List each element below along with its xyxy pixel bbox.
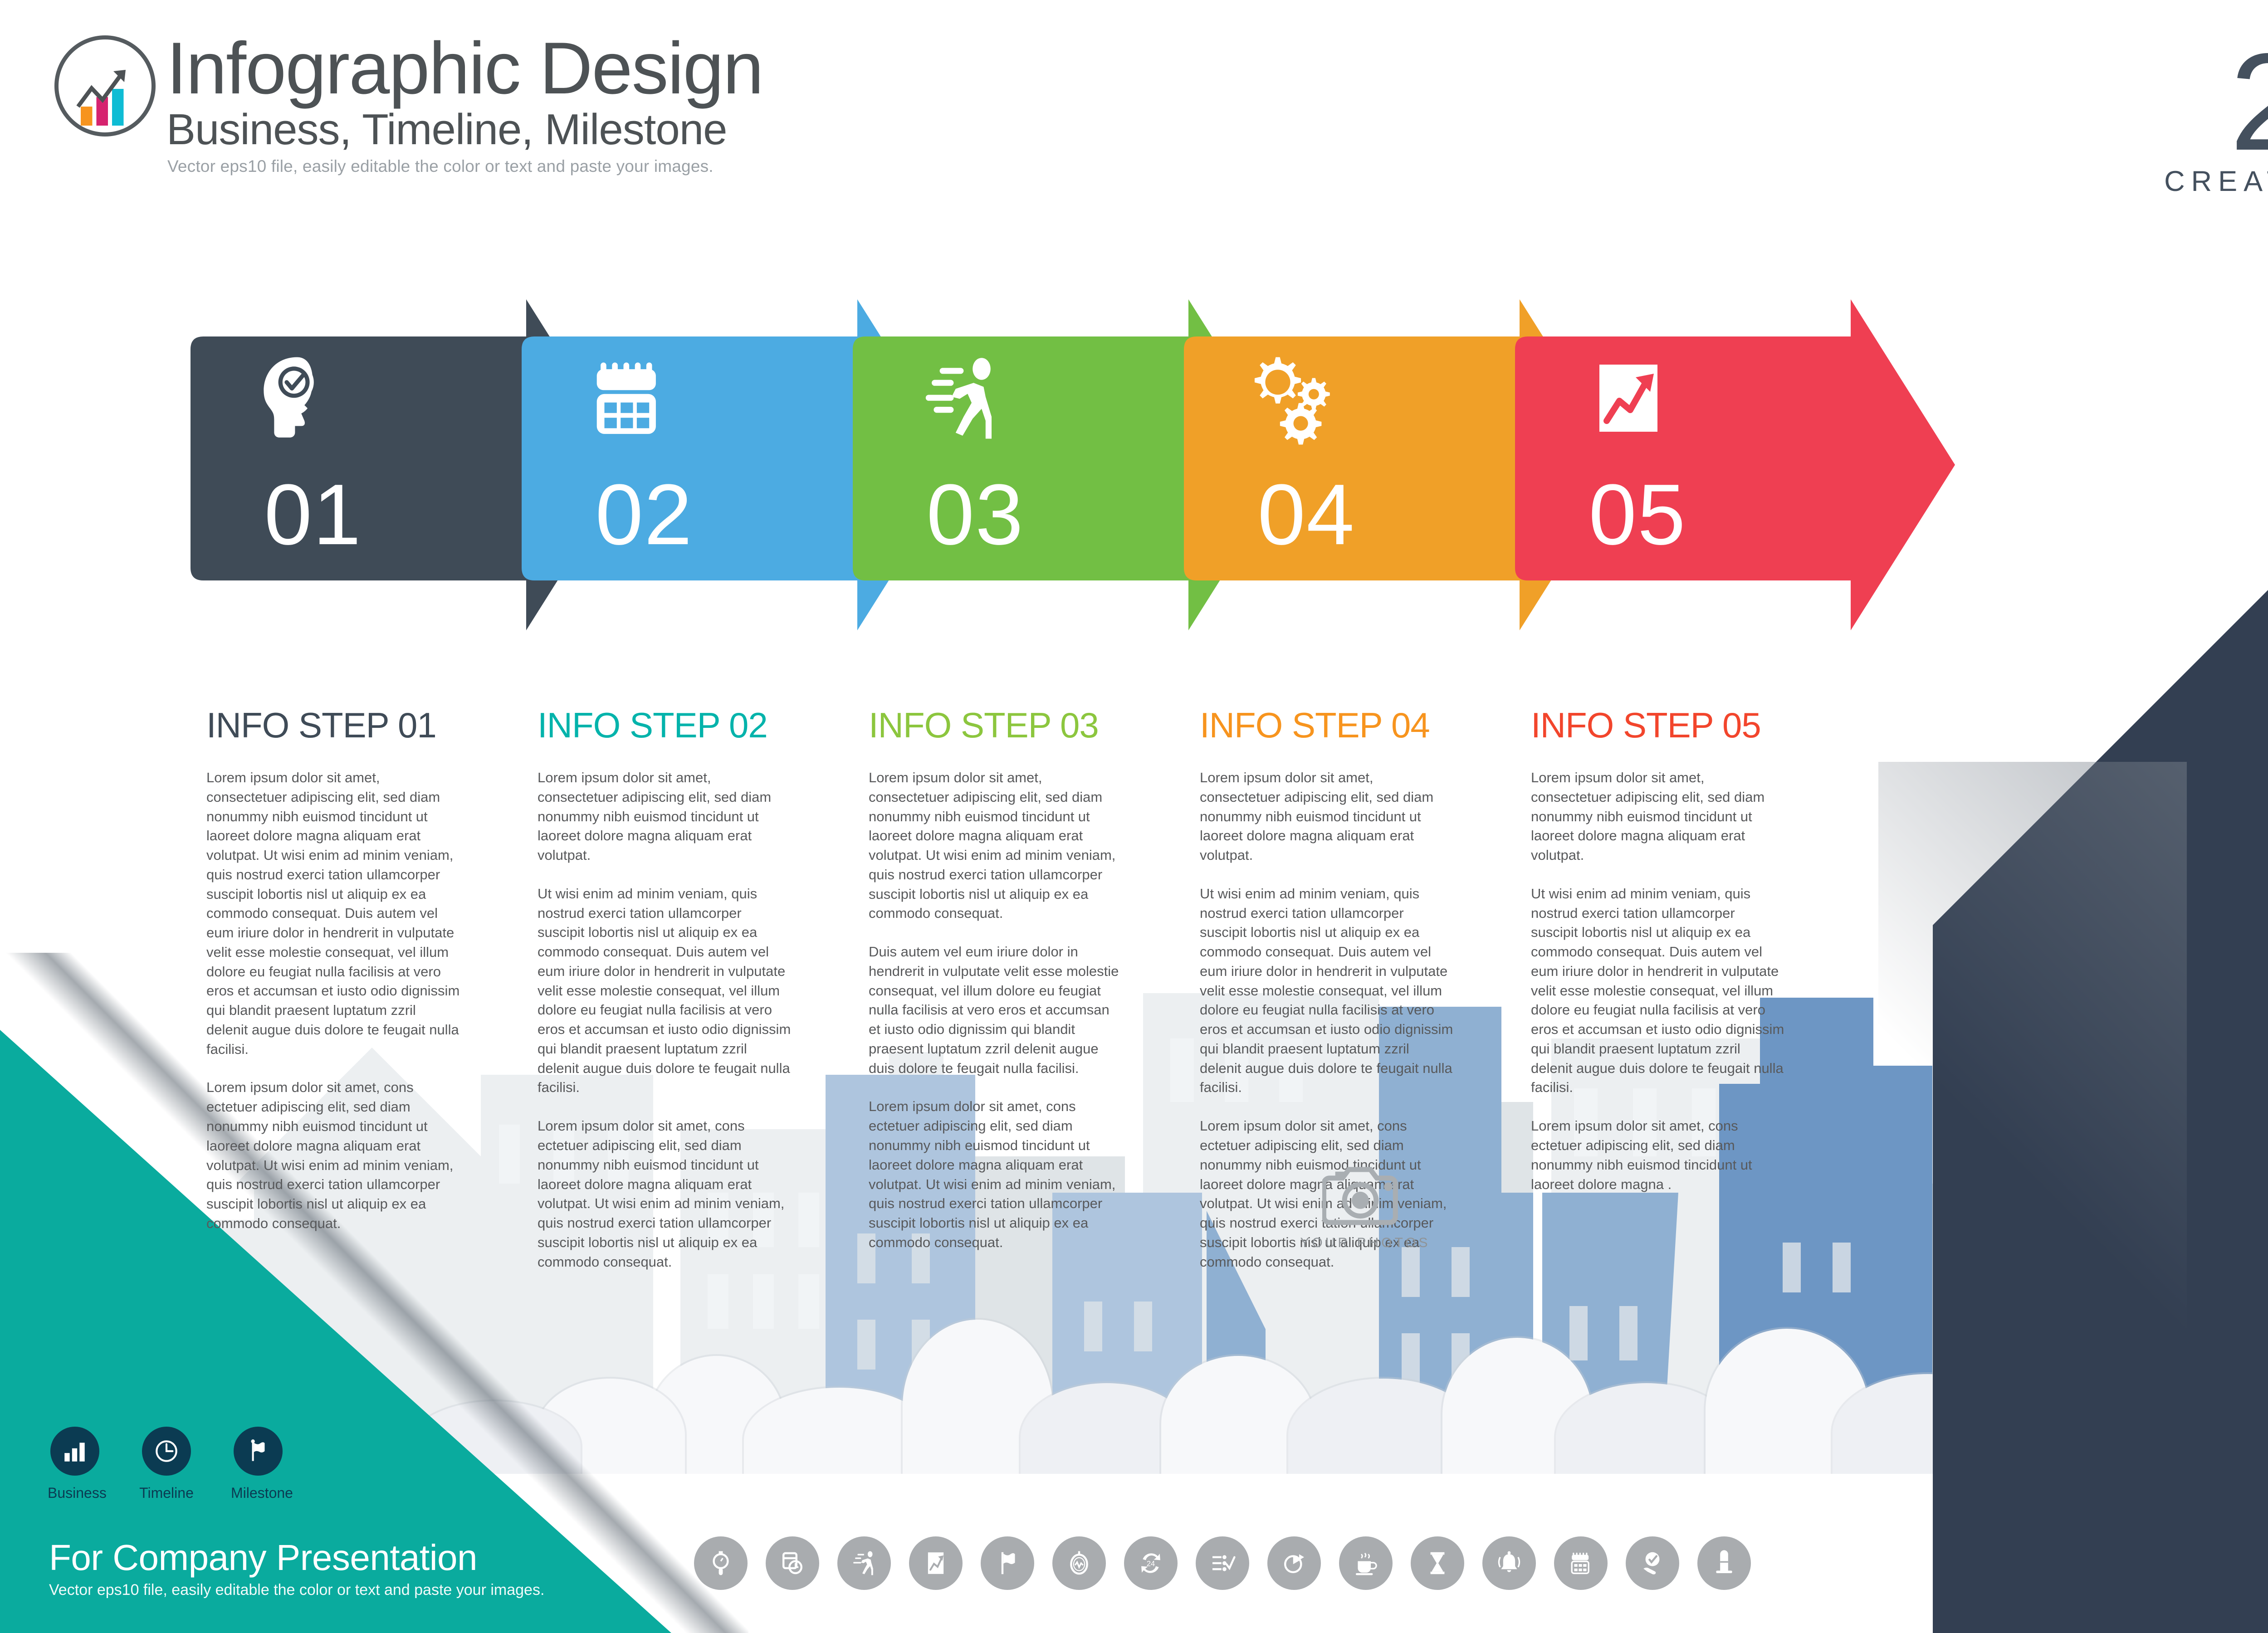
badge-milestone[interactable]: Milestone — [231, 1427, 285, 1501]
step-number-01: 01 — [209, 472, 417, 558]
alarm-bell-icon[interactable] — [1482, 1536, 1536, 1590]
footer-block: For Company Presentation Vector eps10 fi… — [49, 1540, 544, 1599]
info-column-01: INFO STEP 01 Lorem ipsum dolor sit amet,… — [206, 707, 460, 1253]
column-paragraph: Lorem ipsum dolor sit amet, cons ectetue… — [1531, 1116, 1785, 1194]
camera-icon — [1297, 1161, 1433, 1229]
calendar-icon — [576, 345, 680, 449]
infographic-canvas: Infographic Design Business, Timeline, M… — [0, 0, 2268, 1633]
year-block: 2018 CREATE WORK INSPIRE — [2164, 36, 2268, 198]
column-paragraph: Ut wisi enim ad minim veniam, quis nostr… — [538, 884, 792, 1097]
page-subtitle: Business, Timeline, Milestone — [166, 108, 763, 151]
step-number-03: 03 — [871, 472, 1080, 558]
column-paragraph: Lorem ipsum dolor sit amet, consectetuer… — [1531, 768, 1785, 865]
calendar-icon[interactable] — [1554, 1536, 1608, 1590]
badge-label: Business — [48, 1485, 102, 1501]
column-paragraph: Ut wisi enim ad minim veniam, quis nostr… — [1531, 884, 1785, 1097]
headline-line-2: Headline — [1980, 1043, 2268, 1121]
badge-business[interactable]: Business — [48, 1427, 102, 1501]
step-arrow-row: 01 — [0, 290, 1950, 644]
column-paragraph: Lorem ipsum dolor sit amet, consectetuer… — [1200, 768, 1454, 865]
svg-text:24: 24 — [1147, 1560, 1155, 1568]
column-heading-01: INFO STEP 01 — [206, 707, 460, 743]
column-paragraph: Lorem ipsum dolor sit amet, consectetuer… — [869, 768, 1123, 923]
headline-line-3: Here — [1980, 1121, 2268, 1199]
badge-label: Milestone — [231, 1485, 285, 1501]
column-heading-05: INFO STEP 05 — [1531, 707, 1785, 743]
photo-placeholder[interactable]: YOUR PHOTOS — [1297, 1161, 1433, 1251]
column-heading-02: INFO STEP 02 — [538, 707, 792, 743]
headline-line-1: Place Your — [1980, 966, 2268, 1043]
year-value: 2018 — [2164, 36, 2268, 168]
hourglass-icon[interactable] — [1411, 1536, 1464, 1590]
footer-note: Vector eps10 file, easily editable the c… — [49, 1581, 544, 1599]
stopwatch-icon[interactable] — [694, 1536, 748, 1590]
pie-clock-icon[interactable] — [1267, 1536, 1321, 1590]
growth-chart-icon — [1576, 347, 1681, 451]
info-column-02: INFO STEP 02 Lorem ipsum dolor sit amet,… — [538, 707, 792, 1291]
column-paragraph: Lorem ipsum dolor sit amet, cons ectetue… — [869, 1097, 1123, 1252]
running-man-icon[interactable] — [837, 1536, 891, 1590]
column-paragraph: Lorem ipsum dolor sit amet, cons ectetue… — [206, 1078, 460, 1233]
flag-icon — [234, 1427, 283, 1476]
flag-icon[interactable] — [981, 1536, 1034, 1590]
column-paragraph: Lorem ipsum dolor sit amet, consectetuer… — [206, 768, 460, 1059]
icon-strip: 24 — [694, 1536, 1751, 1590]
footer-title: For Company Presentation — [49, 1540, 544, 1576]
column-paragraph: Duis autem vel eum iriure dolor in hendr… — [869, 942, 1123, 1078]
column-paragraph: Lorem ipsum dolor sit amet, cons ectetue… — [538, 1116, 792, 1272]
logo-chart-growth-icon — [54, 35, 156, 136]
badge-label: Timeline — [139, 1485, 194, 1501]
growth-chart-icon[interactable] — [909, 1536, 963, 1590]
step-number-04: 04 — [1202, 472, 1411, 558]
photo-placeholder-caption: YOUR PHOTOS — [1297, 1235, 1433, 1251]
page-note: Vector eps10 file, easily editable the c… — [167, 157, 763, 176]
year-tagline: CREATE WORK INSPIRE — [2164, 165, 2268, 198]
bookmark-icon[interactable] — [1697, 1536, 1751, 1590]
info-column-03: INFO STEP 03 Lorem ipsum dolor sit amet,… — [869, 707, 1123, 1272]
gears-icon — [1236, 345, 1340, 449]
running-man-icon — [909, 345, 1014, 449]
column-heading-03: INFO STEP 03 — [869, 707, 1123, 743]
info-column-05: INFO STEP 05 Lorem ipsum dolor sit amet,… — [1531, 707, 1785, 1213]
column-paragraph: Lorem ipsum dolor sit amet, consectetuer… — [538, 768, 792, 865]
page-title: Infographic Design — [166, 32, 763, 105]
step-number-02: 02 — [540, 472, 748, 558]
bar-chart-icon — [50, 1427, 99, 1476]
column-paragraph: Ut wisi enim ad minim veniam, quis nostr… — [1200, 884, 1454, 1097]
calendar-clock-icon[interactable] — [766, 1536, 819, 1590]
24-hours-icon[interactable]: 24 — [1124, 1536, 1178, 1590]
clock-icon — [142, 1427, 191, 1476]
coffee-cup-icon[interactable] — [1339, 1536, 1393, 1590]
step-number-05: 05 — [1533, 472, 1742, 558]
brand-header: Infographic Design Business, Timeline, M… — [54, 32, 763, 176]
badge-row: Business Timeline Milestone — [48, 1427, 285, 1501]
head-clock-idea-icon — [245, 345, 349, 449]
clock-hand-icon[interactable] — [1626, 1536, 1679, 1590]
checklist-icon[interactable] — [1196, 1536, 1249, 1590]
column-heading-04: INFO STEP 04 — [1200, 707, 1454, 743]
compass-pulse-icon[interactable] — [1052, 1536, 1106, 1590]
badge-timeline[interactable]: Timeline — [139, 1427, 194, 1501]
headline-block: Place Your Headline Here — [1980, 966, 2268, 1199]
